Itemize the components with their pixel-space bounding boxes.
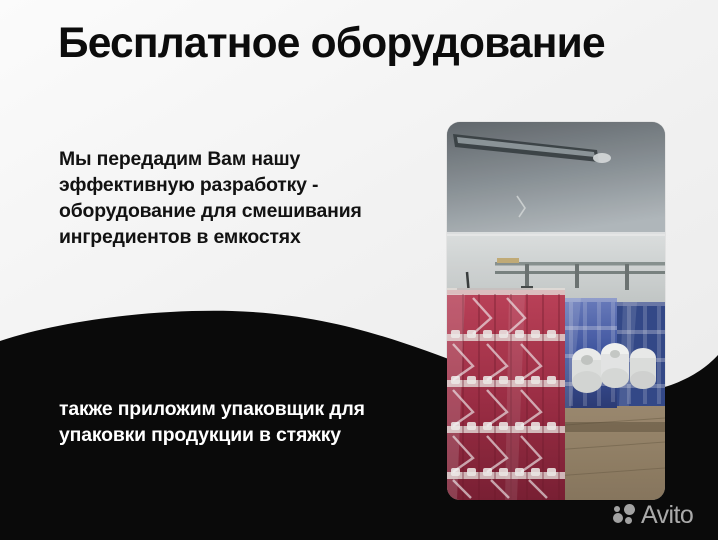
avito-watermark: Avito (613, 503, 693, 528)
warehouse-photo (447, 122, 665, 500)
promo-slide: Бесплатное оборудование Мы передадим Вам… (0, 0, 718, 540)
avito-dots-icon (613, 504, 636, 527)
lead-paragraph: Мы передадим Вам нашу эффективную разраб… (59, 146, 431, 250)
warehouse-photo-artwork (447, 122, 665, 500)
avito-wordmark: Avito (641, 503, 693, 528)
page-title: Бесплатное оборудование (58, 22, 678, 67)
footnote-paragraph: также приложим упаковщик для упаковки пр… (59, 396, 411, 448)
